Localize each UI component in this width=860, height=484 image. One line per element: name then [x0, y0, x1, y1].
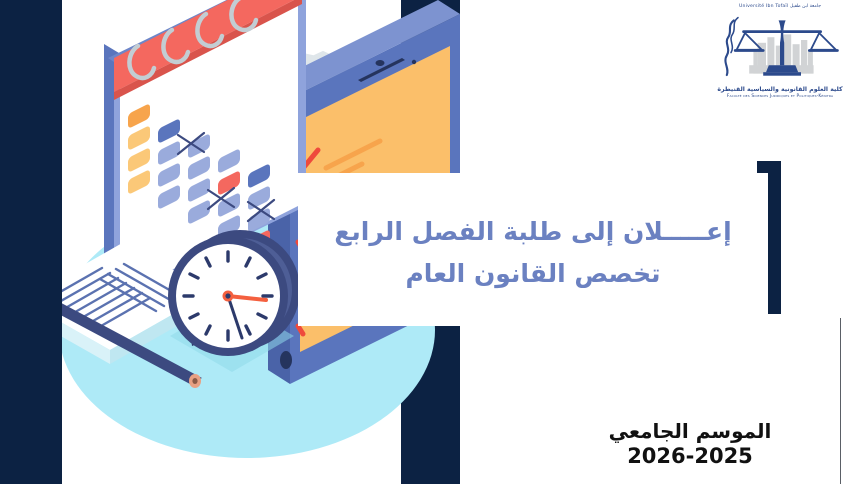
season-label: الموسم الجامعي	[560, 420, 820, 443]
university-logo: جامعة ابن طفيل Université Ibn Tofaïl	[706, 4, 854, 124]
academic-season-block: الموسم الجامعي 2026-2025	[560, 420, 820, 469]
announcement-poster: إعـــــلان إلى طلبة الفصل الرابع تخصص ال…	[0, 0, 860, 484]
logo-faculty-name-arabic: كلية العلوم القانونية والسياسية القنيطرة	[717, 86, 842, 93]
logo-university-name: جامعة ابن طفيل Université Ibn Tofaïl	[739, 4, 821, 9]
navy-bar-left	[0, 0, 62, 484]
announcement-title-card: إعـــــلان إلى طلبة الفصل الرابع تخصص ال…	[298, 173, 768, 326]
season-years: 2026-2025	[560, 444, 820, 469]
logo-faculty-name-french: Faculté des Sciences Juridiques et Polit…	[727, 94, 833, 99]
announcement-line-1: إعـــــلان إلى طلبة الفصل الرابع	[334, 216, 731, 247]
thin-vertical-rule	[840, 318, 841, 484]
announcement-line-2: تخصص القانون العام	[405, 258, 660, 289]
scales-of-justice-icon	[717, 10, 843, 84]
